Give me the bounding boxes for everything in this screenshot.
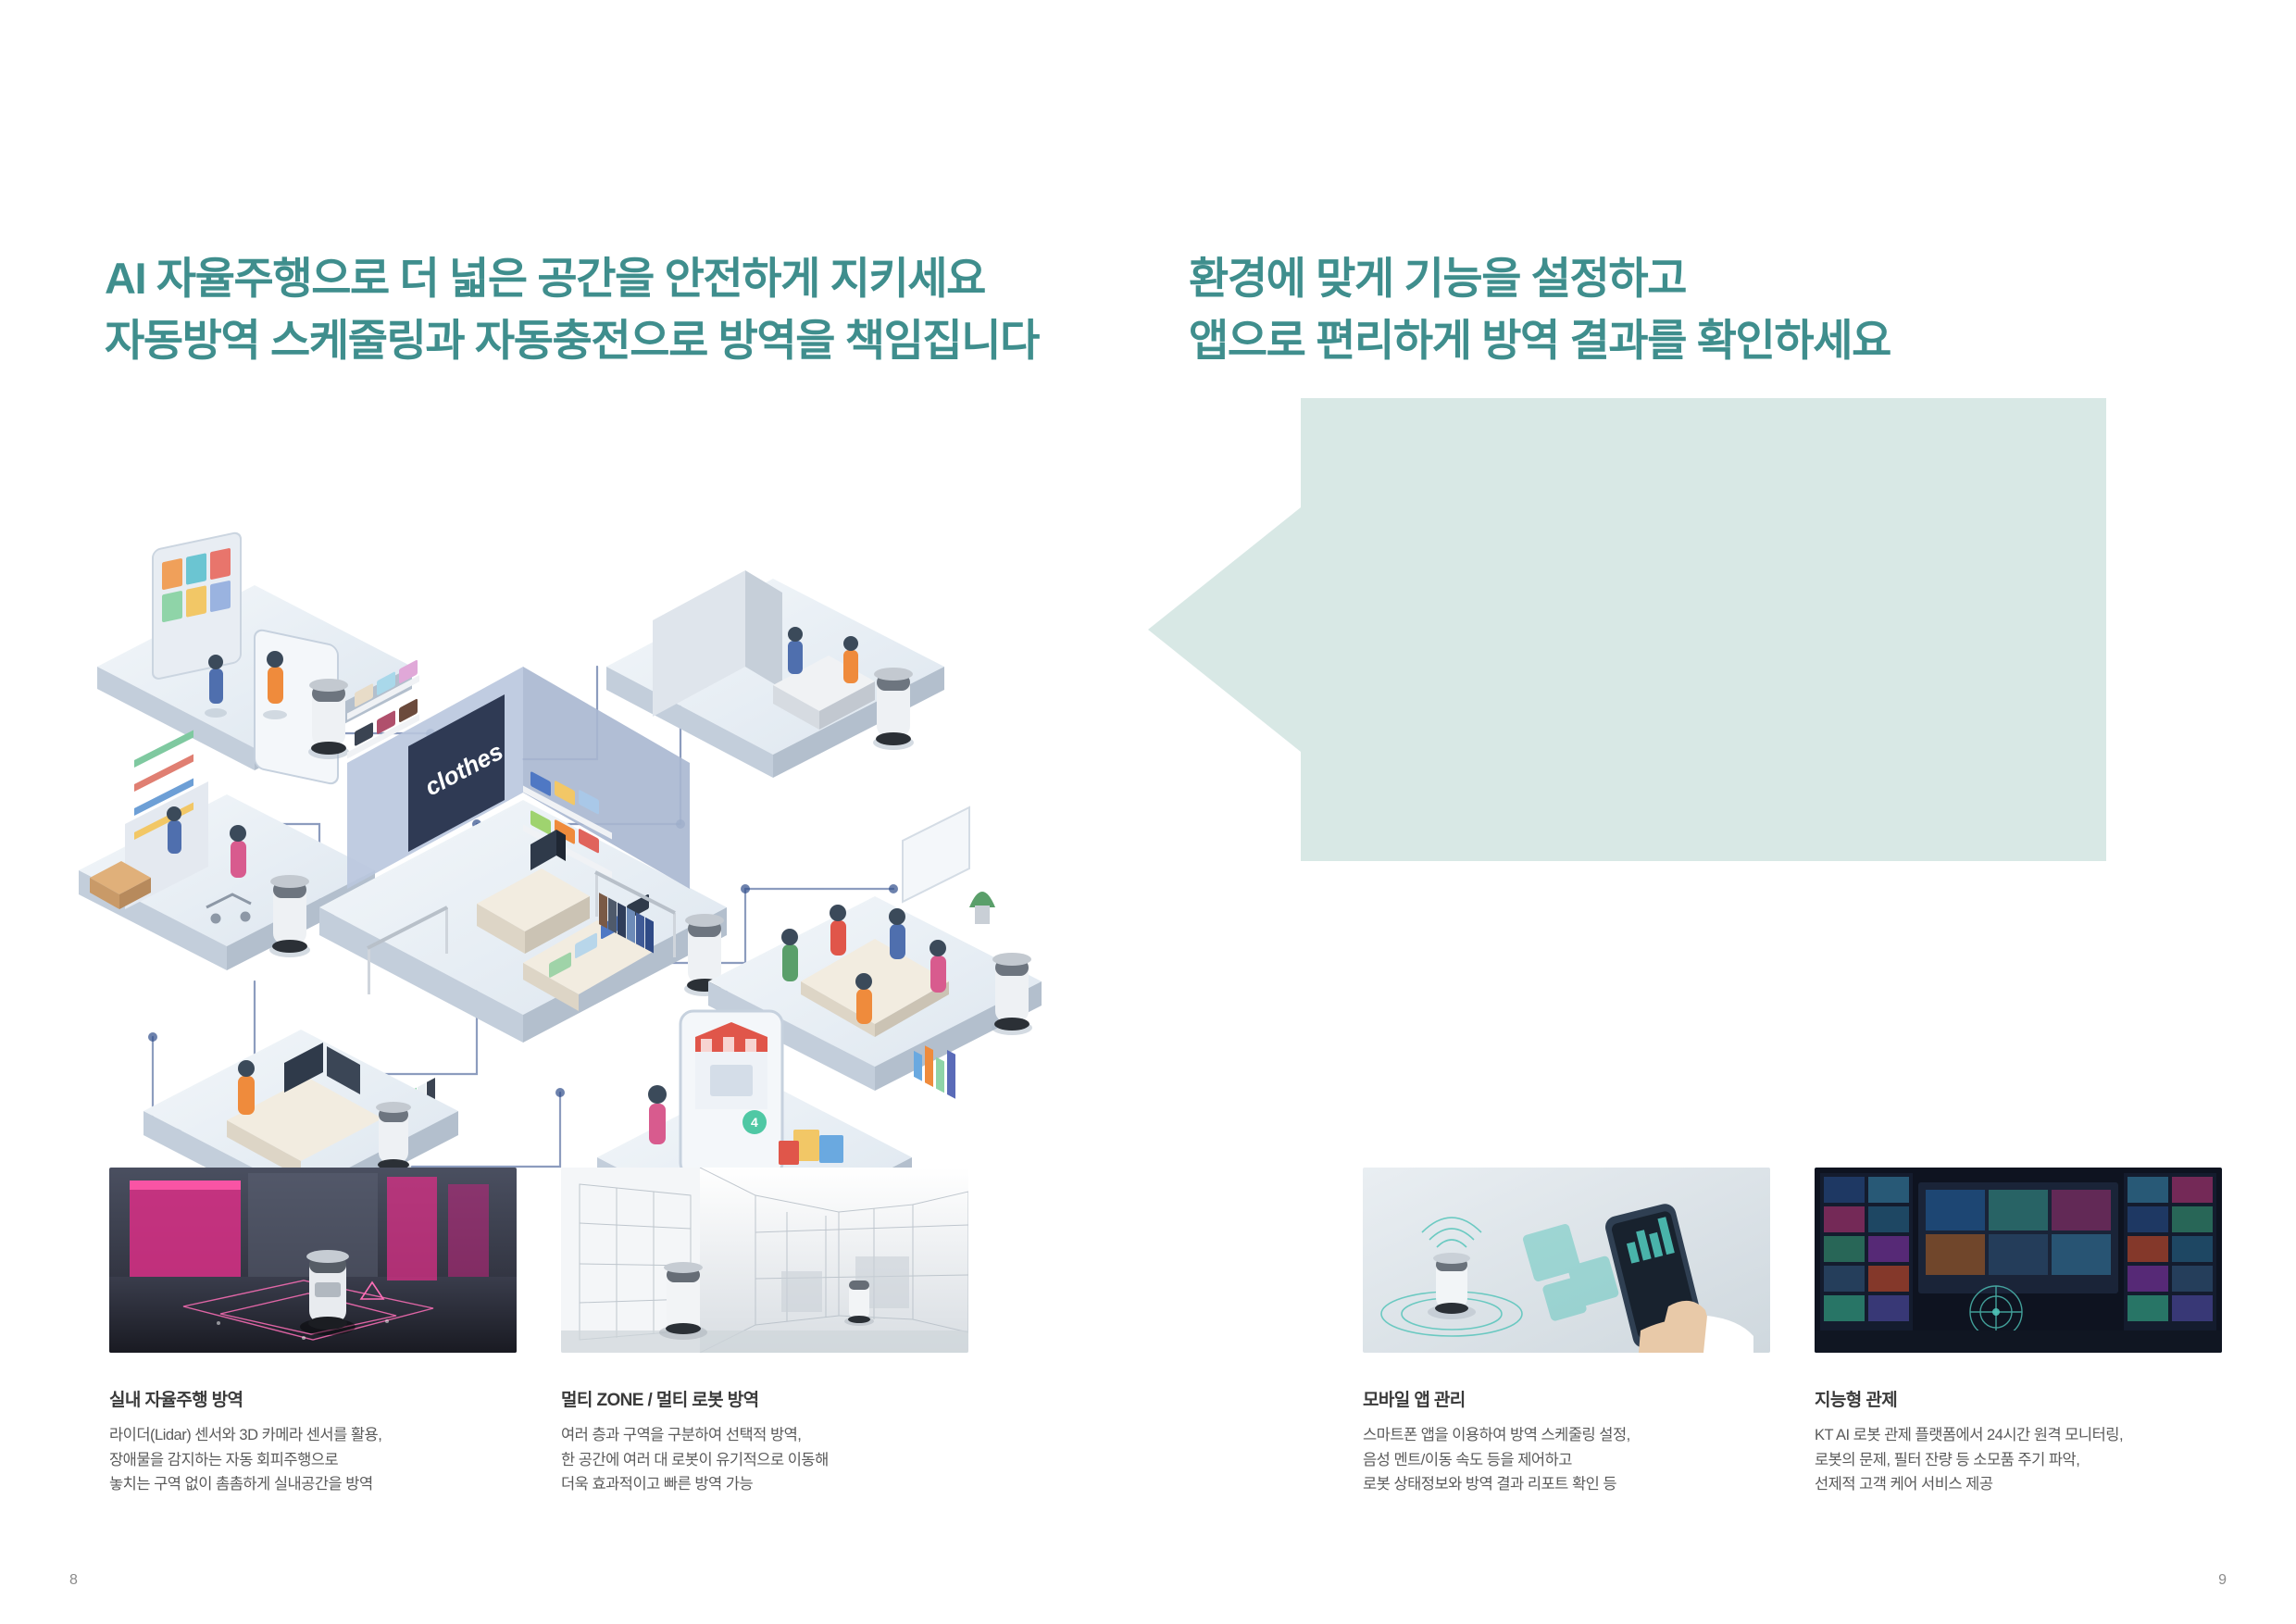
card-body-1-line-3: 놓치는 구역 없이 촘촘하게 실내공간을 방역 [109,1472,381,1497]
page-number-left: 8 [69,1572,78,1589]
photo-control-center [1815,1168,2222,1353]
card-body-4-line-1: KT AI 로봇 관제 플랫폼에서 24시간 원격 모니터링, [1815,1423,2123,1448]
card-body-3-line-2: 음성 멘트/이동 속도 등을 제어하고 [1363,1448,1630,1473]
photo-mobile-app-image [1363,1168,1770,1353]
card-body-1: 라이더(Lidar) 센서와 3D 카메라 센서를 활용, 장애물을 감지하는 … [109,1423,381,1497]
right-page: 환경에 맞게 기능을 설정하고 앱으로 편리하게 방역 결과를 확인하세요 [1148,0,2296,1624]
card-title-2: 멀티 ZONE / 멀티 로봇 방역 [561,1386,759,1411]
card-body-2: 여러 층과 구역을 구분하여 선택적 방역, 한 공간에 여러 대 로봇이 유기… [561,1423,829,1497]
right-headline-line-1: 환경에 맞게 기능을 설정하고 [1189,248,1890,310]
left-headline-line-2: 자동방역 스케줄링과 자동충전으로 방역을 책임집니다 [105,310,1039,372]
card-title-3: 모바일 앱 관리 [1363,1386,1466,1411]
photo-multizone-image [561,1168,968,1353]
card-title-4: 지능형 관제 [1815,1386,1897,1411]
card-body-2-line-1: 여러 층과 구역을 구분하여 선택적 방역, [561,1423,829,1448]
card-body-2-line-2: 한 공간에 여러 대 로봇이 유기적으로 이동해 [561,1448,829,1473]
photo-multizone [561,1168,968,1353]
card-body-4-line-2: 로봇의 문제, 필터 잔량 등 소모품 주기 파악, [1815,1448,2123,1473]
flow-panel-background [903,398,2106,861]
card-body-4-line-3: 선제적 고객 케어 서비스 제공 [1815,1472,2123,1497]
right-headline-line-2: 앱으로 편리하게 방역 결과를 확인하세요 [1189,310,1890,372]
card-body-2-line-3: 더욱 효과적이고 빠른 방역 가능 [561,1472,829,1497]
page-number-right: 9 [2218,1572,2227,1589]
card-body-1-line-1: 라이더(Lidar) 센서와 3D 카메라 센서를 활용, [109,1423,381,1448]
card-title-1: 실내 자율주행 방역 [109,1386,243,1411]
card-body-3: 스마트폰 앱을 이용하여 방역 스케줄링 설정, 음성 멘트/이동 속도 등을 … [1363,1423,1630,1497]
left-headline-line-1: AI 자율주행으로 더 넓은 공간을 안전하게 지키세요 [105,248,1039,310]
svg-text:4: 4 [751,1115,758,1130]
photo-mobile-app [1363,1168,1770,1353]
card-body-1-line-2: 장애물을 감지하는 자동 회피주행으로 [109,1448,381,1473]
photo-control-center-image [1815,1168,2222,1353]
card-body-3-line-3: 로봇 상태정보와 방역 결과 리포트 확인 등 [1363,1472,1630,1497]
left-headline: AI 자율주행으로 더 넓은 공간을 안전하게 지키세요 자동방역 스케줄링과 … [105,248,1039,371]
brochure-spread: AI 자율주행으로 더 넓은 공간을 안전하게 지키세요 자동방역 스케줄링과 … [0,0,2296,1624]
right-headline: 환경에 맞게 기능을 설정하고 앱으로 편리하게 방역 결과를 확인하세요 [1189,248,1890,371]
photo-indoor-autonomous [109,1168,517,1353]
card-body-3-line-1: 스마트폰 앱을 이용하여 방역 스케줄링 설정, [1363,1423,1630,1448]
card-body-4: KT AI 로봇 관제 플랫폼에서 24시간 원격 모니터링, 로봇의 문제, … [1815,1423,2123,1497]
photo-indoor-autonomous-image [109,1168,517,1353]
